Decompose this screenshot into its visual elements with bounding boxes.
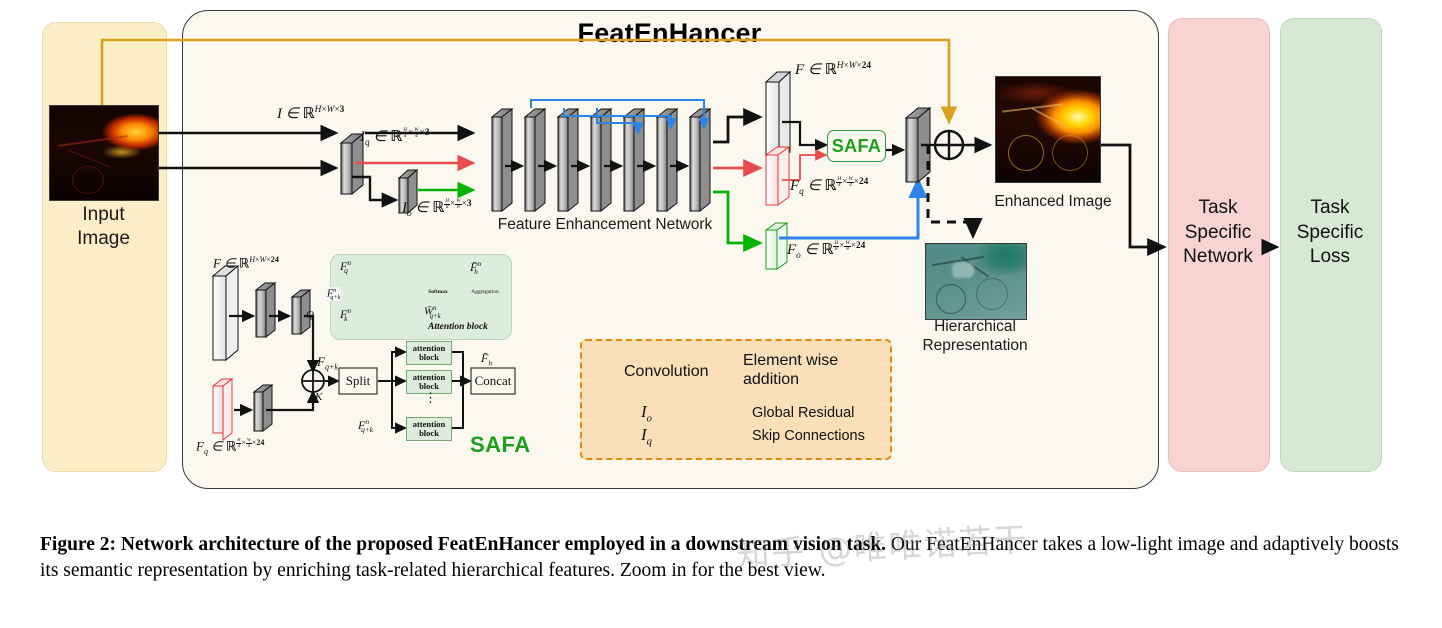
aggregation-box-label: Aggregation [468, 289, 502, 295]
hierarchical-label-line2: Representation [898, 337, 1052, 356]
attention-block-1-line2: block [419, 353, 439, 362]
legend-element-wise-addition-label: Element wise addition [743, 352, 888, 390]
page-title: FeatEnHancer [182, 10, 1157, 49]
safa-k-label: K [315, 391, 322, 403]
legend-ewa-line1: Element wise [743, 352, 888, 371]
hierarchical-representation-label: Hierarchical Representation [898, 318, 1052, 356]
safa-detail-title: SAFA [470, 432, 531, 458]
attention-blocks-ellipsis: ⋮ [424, 394, 437, 402]
tn-line1: Task [1168, 196, 1268, 221]
enhanced-image-thumbnail [995, 76, 1101, 183]
fo-tensor-label: Fo ∈ ℝH8×W8×24 [787, 240, 865, 261]
f-tensor-label: F ∈ ℝH×W×24 [795, 60, 871, 79]
tl-line1: Task [1280, 196, 1380, 221]
tl-line2: Specific [1280, 221, 1380, 246]
fq-tensor-label: Fq ∈ ℝH4×W4×24 [790, 176, 868, 197]
tl-line3: Loss [1280, 245, 1380, 270]
safa-module-box[interactable]: SAFA [827, 130, 886, 162]
iq-tensor-label: Iq ∈ ℝH4×W4×3 [360, 127, 430, 148]
input-label-line1: Input [42, 203, 165, 227]
input-image-thumbnail [49, 105, 159, 201]
attention-w-label: W̄nq+k [424, 305, 441, 320]
legend-io-label: Io [641, 402, 652, 424]
concat-box[interactable]: Concat [471, 368, 515, 394]
attention-fqk-n-label: Fnq+k [326, 287, 341, 301]
attention-block-3[interactable]: attention block [406, 417, 452, 441]
legend-ewa-line2: addition [743, 371, 888, 390]
safa-fqk-n-label: Fnq+k [358, 417, 373, 434]
tn-line3: Network [1168, 245, 1268, 270]
input-image-label: Input Image [42, 203, 165, 251]
hierarchical-representation-thumbnail [925, 243, 1027, 320]
fen-label: Feature Enhancement Network [481, 216, 729, 234]
safa-f-tensor-label: F ∈ ℝH×W×24 [213, 255, 279, 271]
attention-fh-n-label: F̄nh [470, 259, 478, 276]
safa-q-label: Q [306, 309, 314, 321]
enhanced-image-label: Enhanced Image [962, 193, 1144, 211]
attention-fk-n-label: Fnk [340, 306, 347, 323]
legend-global-residual-label: Global Residual [752, 405, 854, 421]
safa-fqk-label: Fq+k [317, 354, 338, 372]
safa-fq-tensor-label: Fq ∈ ℝH4×W4×24 [196, 438, 264, 456]
legend-iq-label: Iq [641, 425, 652, 447]
legend-skip-connections-label: Skip Connections [752, 428, 865, 444]
attention-block-title: Attention block [428, 322, 488, 332]
attention-block-3-line2: block [419, 429, 439, 438]
tn-line2: Specific [1168, 221, 1268, 246]
input-label-line2: Image [42, 227, 165, 251]
io-tensor-label: Io ∈ ℝH8×W8×3 [402, 198, 472, 219]
attention-block-1[interactable]: attention block [406, 341, 452, 365]
input-tensor-label: I ∈ ℝH×W×3 [277, 104, 344, 123]
task-specific-loss-label: Task Specific Loss [1280, 196, 1380, 270]
attention-fq-n-label: Fnq [340, 258, 348, 275]
softmax-box-label: Softmax [424, 289, 452, 295]
figure-canvas: FeatEnHancer [0, 0, 1442, 628]
figure-caption: Figure 2: Network architecture of the pr… [40, 532, 1412, 584]
split-box[interactable]: Split [339, 368, 377, 394]
task-specific-network-label: Task Specific Network [1168, 196, 1268, 270]
safa-fh-label: F̄h [481, 351, 492, 367]
legend-convolution-label: Convolution [624, 363, 709, 381]
hierarchical-label-line1: Hierarchical [898, 318, 1052, 337]
